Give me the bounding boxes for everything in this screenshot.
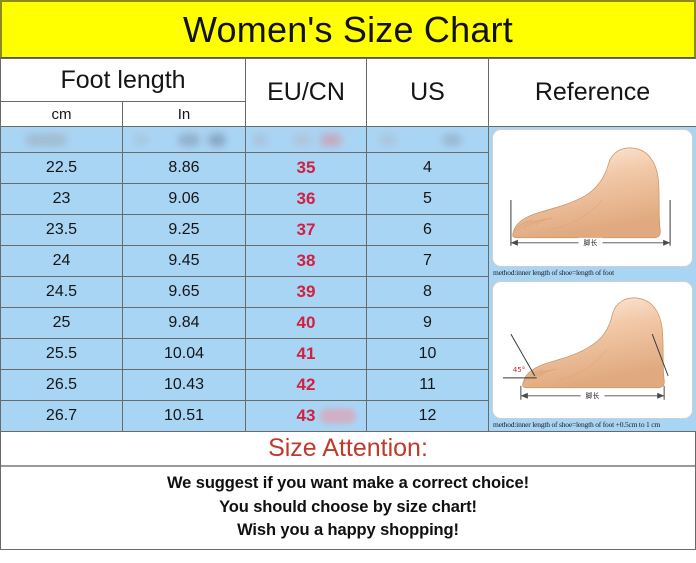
header-in: In xyxy=(123,102,246,127)
cell-eu-cn: 38 xyxy=(246,246,367,277)
size-chart: Women's Size Chart Foot length EU/CN US … xyxy=(0,0,696,563)
angle-label-2: 45° xyxy=(513,366,525,374)
foot-illustration-1: 脚长 xyxy=(493,130,692,266)
redacted-row: 脚长 method:inner length of shoe=length of… xyxy=(1,127,696,153)
reference-stack: 脚长 method:inner length of shoe=length of… xyxy=(489,127,696,431)
cell-cm: 23.5 xyxy=(1,215,123,246)
size-attention-block: Size Attention: We suggest if you want m… xyxy=(0,432,696,550)
reference-caption-2: method:inner length of shoe=length of fo… xyxy=(489,419,696,431)
cell-us: 9 xyxy=(367,308,489,339)
foot-diagram-1: 脚长 xyxy=(492,129,693,267)
cell-eu-cn: 39 xyxy=(246,277,367,308)
cell-eu-cn: 41 xyxy=(246,339,367,370)
redaction-blur xyxy=(252,134,268,145)
measure-label-2: 脚长 xyxy=(586,391,600,400)
attention-line: You should choose by size chart! xyxy=(1,496,695,519)
cell-cm: 26.7 xyxy=(1,401,123,432)
cell-eu-cn: 36 xyxy=(246,184,367,215)
cell-eu-cn: 35 xyxy=(246,153,367,184)
redaction-blur xyxy=(25,133,67,146)
cell-in: 9.84 xyxy=(123,308,246,339)
reference-column-cell: 脚长 method:inner length of shoe=length of… xyxy=(489,127,696,432)
cell-us: 6 xyxy=(367,215,489,246)
redaction-blur xyxy=(292,134,312,146)
cell-in: 10.04 xyxy=(123,339,246,370)
table-header-group-row: Foot length EU/CN US Reference xyxy=(1,59,696,102)
redaction-blur xyxy=(133,134,149,145)
redaction-blur xyxy=(379,134,397,145)
page-title: Women's Size Chart xyxy=(183,12,513,48)
cell-us: 5 xyxy=(367,184,489,215)
cell-cm: 24.5 xyxy=(1,277,123,308)
reference-panel-1: 脚长 method:inner length of shoe=length of… xyxy=(489,127,696,279)
redaction-blur xyxy=(178,133,200,146)
chart-title-banner: Women's Size Chart xyxy=(0,0,696,58)
header-cm: cm xyxy=(1,102,123,127)
cell-us: 11 xyxy=(367,370,489,401)
redaction-blur xyxy=(320,409,356,424)
redacted-cell-in xyxy=(123,127,246,153)
size-table: Foot length EU/CN US Reference cm In xyxy=(0,58,696,432)
header-eu-cn: EU/CN xyxy=(246,59,367,127)
cell-us: 8 xyxy=(367,277,489,308)
header-reference: Reference xyxy=(489,59,696,127)
cell-us: 12 xyxy=(367,401,489,432)
cell-in: 8.86 xyxy=(123,153,246,184)
cell-eu-cn: 40 xyxy=(246,308,367,339)
cell-us: 10 xyxy=(367,339,489,370)
redacted-cell-eu xyxy=(246,127,367,153)
reference-panel-2: 45° 脚长 xyxy=(489,279,696,431)
redaction-blur xyxy=(442,134,462,146)
size-attention-lines: We suggest if you want make a correct ch… xyxy=(1,467,695,548)
measure-label-1: 脚长 xyxy=(584,238,598,247)
redacted-cell-cm xyxy=(1,127,123,153)
cell-in: 10.43 xyxy=(123,370,246,401)
cell-cm: 22.5 xyxy=(1,153,123,184)
cell-cm: 24 xyxy=(1,246,123,277)
cell-in: 9.65 xyxy=(123,277,246,308)
redaction-blur xyxy=(208,133,226,146)
cell-cm: 23 xyxy=(1,184,123,215)
cell-cm: 25.5 xyxy=(1,339,123,370)
reference-caption-1: method:inner length of shoe=length of fo… xyxy=(489,267,696,279)
cell-cm: 25 xyxy=(1,308,123,339)
foot-diagram-2: 45° 脚长 xyxy=(492,281,693,419)
redaction-blur xyxy=(320,133,342,146)
redacted-cell-us xyxy=(367,127,489,153)
foot-illustration-2: 45° 脚长 xyxy=(493,282,692,418)
header-us: US xyxy=(367,59,489,127)
attention-line: Wish you a happy shopping! xyxy=(1,519,695,542)
cell-us: 4 xyxy=(367,153,489,184)
cell-in: 10.51 xyxy=(123,401,246,432)
cell-eu-cn: 43 xyxy=(246,401,367,432)
attention-line: We suggest if you want make a correct ch… xyxy=(1,472,695,495)
size-attention-heading: Size Attention: xyxy=(1,432,695,467)
cell-eu-cn: 42 xyxy=(246,370,367,401)
cell-in: 9.06 xyxy=(123,184,246,215)
cell-in: 9.25 xyxy=(123,215,246,246)
cell-cm: 26.5 xyxy=(1,370,123,401)
header-foot-length: Foot length xyxy=(1,59,246,102)
cell-us: 7 xyxy=(367,246,489,277)
cell-in: 9.45 xyxy=(123,246,246,277)
cell-eu-cn: 37 xyxy=(246,215,367,246)
